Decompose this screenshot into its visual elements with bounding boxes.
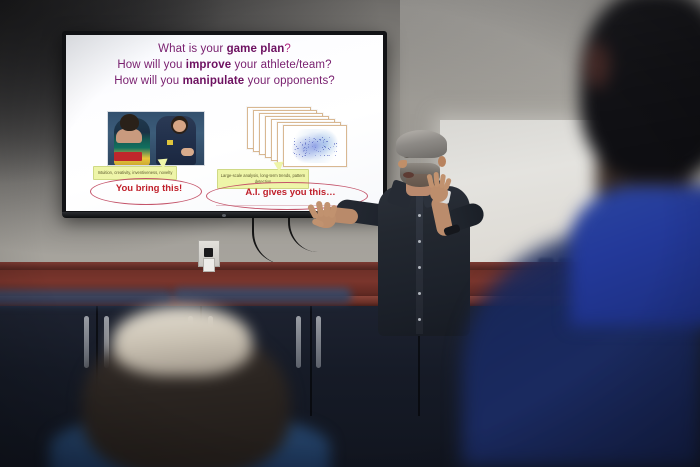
slide-line-1: What is your game plan?	[66, 43, 383, 56]
presenter-right-hand	[426, 174, 452, 202]
attendee-left-hair-grey	[112, 306, 252, 376]
callout-left-tail	[158, 159, 169, 170]
coach-hand	[181, 148, 194, 156]
attendee-right-shirt	[570, 186, 700, 326]
foreground-attendee-left	[60, 296, 312, 467]
coach-badge	[167, 140, 173, 145]
foreground-attendee-right	[556, 0, 700, 310]
presenter-hair	[396, 130, 447, 158]
display-power-led-icon	[222, 214, 226, 217]
athlete-head	[120, 114, 139, 131]
presenter-ear	[438, 156, 446, 167]
shirt-button	[418, 266, 421, 269]
attendee-right-ear	[584, 42, 610, 88]
shirt-button	[418, 318, 421, 321]
shirt-button	[418, 214, 421, 217]
outlet-plug	[203, 258, 215, 272]
outlet-port-icon	[204, 248, 213, 257]
presenter-left-hand	[310, 202, 340, 230]
jersey-logo	[114, 152, 142, 161]
presenter-mouth	[403, 172, 414, 178]
slide-headline-block: What is your game plan? How will you imp…	[66, 43, 383, 91]
slide-coach-photo	[107, 111, 205, 166]
slide-line-3: How will you manipulate your opponents?	[66, 75, 383, 88]
coach-face	[173, 120, 186, 132]
presenter-nose	[398, 160, 407, 168]
presentation-photo: What is your game plan? How will you imp…	[0, 0, 700, 467]
callout-right-tail	[274, 162, 285, 173]
slide-left-headline: You bring this!	[104, 183, 194, 194]
slide-line-2: How will you improve your athlete/team?	[66, 59, 383, 72]
athlete-back	[116, 129, 142, 143]
shirt-button	[418, 240, 421, 243]
shirt-button	[418, 292, 421, 295]
attendee-right-hair	[580, 0, 700, 180]
